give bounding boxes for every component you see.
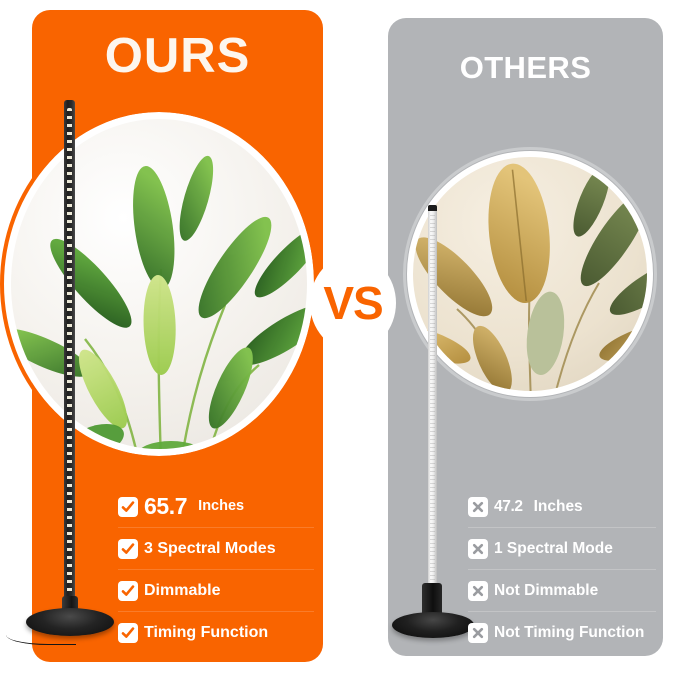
- ours-foliage: [11, 119, 307, 449]
- cross-icon: [468, 623, 488, 643]
- ours-feature-row-length: 65.7 Inches: [118, 486, 314, 527]
- ours-dimmable-label: Dimmable: [144, 583, 220, 599]
- others-timing-label: Not Timing Function: [494, 625, 644, 641]
- ours-feature-row-timing: Timing Function: [118, 611, 314, 653]
- others-feature-row-length: 47.2 Inches: [468, 486, 656, 527]
- check-icon: [118, 539, 138, 559]
- ours-length-value: 65.7: [144, 495, 187, 518]
- vs-badge: VS: [310, 255, 396, 351]
- cross-icon: [468, 497, 488, 517]
- check-icon: [118, 581, 138, 601]
- others-feature-row-dimmable: Not Dimmable: [468, 569, 656, 611]
- cross-icon: [468, 581, 488, 601]
- others-lamp-texture: [430, 215, 435, 591]
- comparison-graphic: OURS: [0, 0, 679, 675]
- others-modes-label: 1 Spectral Mode: [494, 541, 613, 557]
- ours-lamp-leds: [67, 108, 72, 600]
- others-length-unit: Inches: [534, 499, 583, 515]
- cross-icon: [468, 539, 488, 559]
- others-foliage: [413, 157, 647, 391]
- ours-timing-label: Timing Function: [144, 625, 268, 641]
- others-dimmable-label: Not Dimmable: [494, 583, 598, 599]
- ours-product-photo: [4, 112, 314, 456]
- check-icon: [118, 497, 138, 517]
- others-lamp-cap: [428, 205, 437, 211]
- ours-lamp-cord: [6, 628, 76, 645]
- ours-lamp: [64, 100, 75, 620]
- ours-modes-label: 3 Spectral Modes: [144, 541, 276, 557]
- ours-title: OURS: [32, 32, 323, 81]
- others-product-photo: [407, 151, 653, 397]
- others-feature-row-timing: Not Timing Function: [468, 611, 656, 653]
- others-feature-row-modes: 1 Spectral Mode: [468, 527, 656, 569]
- others-lamp: [428, 205, 437, 605]
- ours-feature-row-dimmable: Dimmable: [118, 569, 314, 611]
- others-feature-list: 47.2 Inches 1 Spectral Mode Not Dimmable: [468, 486, 656, 653]
- others-lamp-base: [392, 612, 474, 638]
- ours-feature-list: 65.7 Inches 3 Spectral Modes Dimmable: [118, 486, 314, 653]
- check-icon: [118, 623, 138, 643]
- ours-feature-row-modes: 3 Spectral Modes: [118, 527, 314, 569]
- others-title: OTHERS: [388, 52, 663, 83]
- wilting-plant-illustration: [413, 157, 653, 397]
- others-length-value: 47.2: [494, 499, 523, 515]
- ours-length-unit: Inches: [198, 499, 244, 514]
- green-plant-illustration: [11, 119, 314, 456]
